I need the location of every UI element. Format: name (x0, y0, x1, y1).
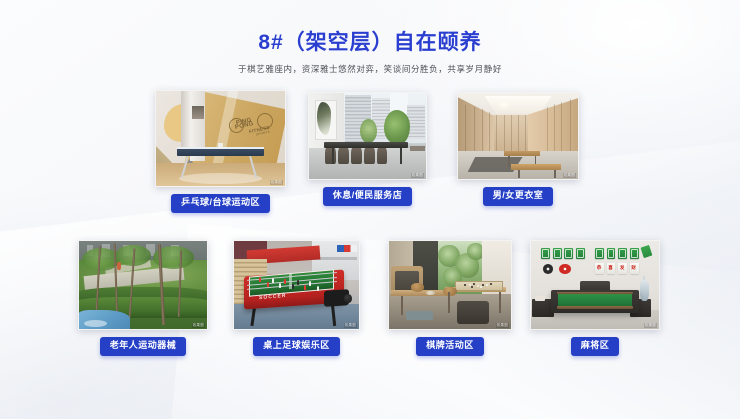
amenity-label-mahjong-zone[interactable]: 麻将区 (571, 337, 620, 356)
amenity-image-chess-and-cards-activity-zone: 效果图 (388, 240, 512, 330)
amenity-label-mens-womens-locker-room[interactable]: 男/女更衣室 (483, 187, 554, 206)
amenity-label-wrap-mahjong-zone: 麻将区 (530, 337, 660, 356)
image-watermark: 效果图 (563, 173, 576, 179)
go-board (455, 281, 503, 291)
wall-tile-glyph-gong: 恭 (597, 266, 602, 271)
image-watermark: 效果图 (344, 323, 357, 329)
amenity-label-table-soccer-entertainment-zone[interactable]: 桌上足球娱乐区 (253, 337, 340, 356)
amenity-image-mens-womens-locker-room: 效果图 (457, 92, 579, 180)
slide-header: 8#（架空层）自在颐养 于棋艺雅座内，资深雅士悠然对弈，笑谈间分胜负，共享岁月静… (0, 30, 740, 74)
amenity-label-chess-and-cards-activity-zone[interactable]: 棋牌活动区 (416, 337, 484, 356)
image-watermark: 效果图 (644, 323, 657, 329)
amenity-image-table-soccer-entertainment-zone: SOCCER 效果图 (233, 240, 360, 330)
scene-locker-room (458, 93, 578, 179)
wall-tile-glyph-xi: 喜 (608, 266, 613, 271)
page-title: 8#（架空层）自在颐养 (0, 30, 740, 55)
amenity-card-table-soccer-entertainment-zone[interactable]: SOCCER 效果图 桌上足球娱乐区 (233, 240, 360, 356)
wall-tile-glyph-fa: 发 (620, 266, 625, 271)
scene-ping-pong-hall: PING PONG FITNESS SPORTS (156, 91, 285, 186)
scene-rest-lounge (309, 93, 426, 179)
amenity-label-table-tennis-billiards-zone[interactable]: 乒乓球/台球运动区 (171, 194, 270, 213)
amenity-card-mahjong-zone[interactable]: 恭 喜 发 财 效果图 麻将区 (530, 240, 660, 356)
image-watermark: 效果图 (411, 173, 424, 179)
image-watermark: 效果图 (192, 323, 205, 329)
wall-text-sports: SPORTS (256, 131, 270, 137)
amenity-label-wrap-chess-and-cards-activity-zone: 棋牌活动区 (388, 337, 512, 356)
amenity-card-chess-and-cards-activity-zone[interactable]: 效果图 棋牌活动区 (388, 240, 512, 356)
amenity-card-table-tennis-billiards-zone[interactable]: PING PONG FITNESS SPORTS 效果图 乒乓球/台球运动区 (155, 90, 286, 213)
ping-pong-wall-graphic: PING PONG FITNESS SPORTS (228, 112, 280, 137)
scene-go-chess-room (389, 241, 511, 329)
image-watermark: 效果图 (270, 180, 283, 186)
amenity-card-elderly-fitness-equipment[interactable]: 效果图 老年人运动器械 (78, 240, 208, 356)
amenity-label-elderly-fitness-equipment[interactable]: 老年人运动器械 (100, 337, 187, 356)
scene-garden-landscape (79, 241, 207, 329)
amenity-label-wrap-table-soccer-entertainment-zone: 桌上足球娱乐区 (233, 337, 360, 356)
slide-canvas: 8#（架空层）自在颐养 于棋艺雅座内，资深雅士悠然对弈，笑谈间分胜负，共享岁月静… (0, 0, 740, 419)
amenity-image-table-tennis-billiards-zone: PING PONG FITNESS SPORTS 效果图 (155, 90, 286, 187)
amenity-card-mens-womens-locker-room[interactable]: 效果图 男/女更衣室 (457, 92, 579, 206)
wall-tile-glyph-cai: 财 (631, 266, 636, 271)
amenity-label-wrap-elderly-fitness-equipment: 老年人运动器械 (78, 337, 208, 356)
amenity-label-wrap-mens-womens-locker-room: 男/女更衣室 (457, 187, 579, 206)
image-watermark: 效果图 (496, 323, 509, 329)
amenity-label-wrap-rest-convenience-service-shop: 休息/便民服务店 (308, 187, 427, 206)
amenity-card-rest-convenience-service-shop[interactable]: 效果图 休息/便民服务店 (308, 92, 427, 206)
scene-foosball-table: SOCCER (234, 241, 359, 329)
scene-mahjong-room: 恭 喜 发 财 (531, 241, 659, 329)
amenity-label-rest-convenience-service-shop[interactable]: 休息/便民服务店 (323, 187, 413, 206)
amenity-image-elderly-fitness-equipment: 效果图 (78, 240, 208, 330)
page-subtitle: 于棋艺雅座内，资深雅士悠然对弈，笑谈间分胜负，共享岁月静好 (0, 64, 740, 74)
amenity-label-wrap-table-tennis-billiards-zone: 乒乓球/台球运动区 (155, 194, 286, 213)
amenity-image-rest-convenience-service-shop: 效果图 (308, 92, 427, 180)
amenity-image-mahjong-zone: 恭 喜 发 财 效果图 (530, 240, 660, 330)
